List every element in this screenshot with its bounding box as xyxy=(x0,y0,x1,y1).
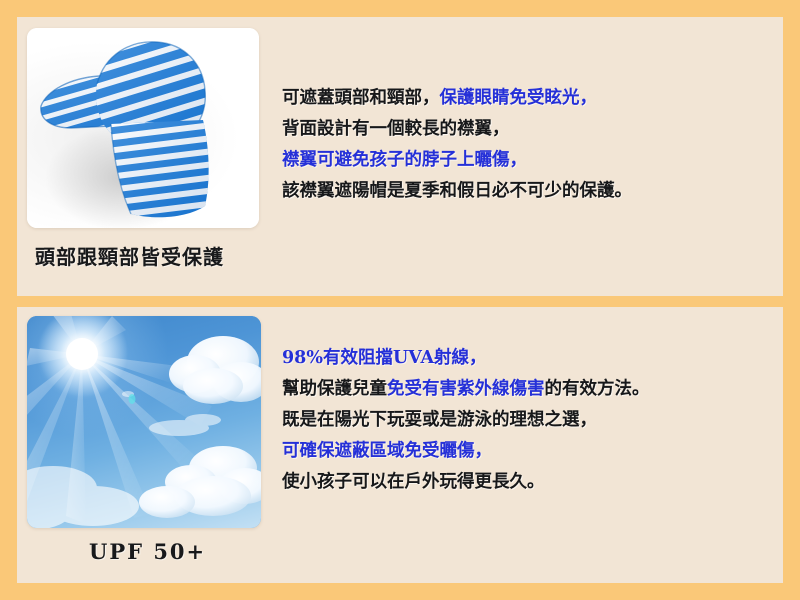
panel-upf-50-protection: UPF 50+ 98%有效阻擋UVA射線， 幫助保護兒童免受有害紫外線傷害的有效… xyxy=(17,307,783,583)
panel-caption-upf: UPF 50+ xyxy=(89,539,206,564)
copy-line: 該襟翼遮陽帽是夏季和假日必不可少的保護。 xyxy=(282,176,782,207)
panel-copy-upf: 98%有效阻擋UVA射線， 幫助保護兒童免受有害紫外線傷害的有效方法。 既是在陽… xyxy=(282,343,782,498)
copy-line: 背面設計有一個較長的襟翼， xyxy=(282,114,782,145)
copy-segment-highlight: 襟翼可避免孩子的脖子上曬傷， xyxy=(282,150,527,170)
copy-segment: 使小孩子可以在戶外玩得更長久。 xyxy=(282,472,545,492)
copy-segment: 該襟翼遮陽帽是夏季和假日必不可少的保護。 xyxy=(282,181,632,201)
copy-segment: 背面設計有一個較長的襟翼， xyxy=(282,119,510,139)
copy-segment-highlight: 免受有害紫外線傷害 xyxy=(387,379,545,399)
panel-head-neck-protection: 頭部跟頸部皆受保護 可遮蓋頭部和頸部，保護眼睛免受眩光， 背面設計有一個較長的襟… xyxy=(17,17,783,296)
copy-line: 可確保遮蔽區域免受曬傷， xyxy=(282,436,782,467)
copy-segment: 可遮蓋頭部和頸部， xyxy=(282,88,440,108)
copy-segment-highlight: 保護眼睛免受眩光， xyxy=(440,88,598,108)
copy-segment-highlight: 98%有效阻擋UVA射線， xyxy=(282,348,487,368)
panel-caption-head-neck: 頭部跟頸部皆受保護 xyxy=(35,241,224,270)
panel-copy-head-neck: 可遮蓋頭部和頸部，保護眼睛免受眩光， 背面設計有一個較長的襟翼， 襟翼可避免孩子… xyxy=(282,83,782,207)
copy-line: 既是在陽光下玩耍或是游泳的理想之選， xyxy=(282,405,782,436)
product-feature-poster: 頭部跟頸部皆受保護 可遮蓋頭部和頸部，保護眼睛免受眩光， 背面設計有一個較長的襟… xyxy=(0,0,800,600)
copy-line: 襟翼可避免孩子的脖子上曬傷， xyxy=(282,145,782,176)
copy-segment: 的有效方法。 xyxy=(545,379,650,399)
sun-and-clouds-blue-sky-icon xyxy=(27,316,261,528)
copy-line: 幫助保護兒童免受有害紫外線傷害的有效方法。 xyxy=(282,374,782,405)
striped-sun-hat-with-neck-flap-icon xyxy=(27,28,259,228)
sun-hat-image xyxy=(27,28,259,228)
blue-sky-sun-image xyxy=(27,316,261,528)
copy-segment: 幫助保護兒童 xyxy=(282,379,387,399)
copy-line: 可遮蓋頭部和頸部，保護眼睛免受眩光， xyxy=(282,83,782,114)
copy-line: 98%有效阻擋UVA射線， xyxy=(282,343,782,374)
copy-segment-highlight: 可確保遮蔽區域免受曬傷， xyxy=(282,441,492,461)
copy-segment: 既是在陽光下玩耍或是游泳的理想之選， xyxy=(282,410,597,430)
copy-line: 使小孩子可以在戶外玩得更長久。 xyxy=(282,467,782,498)
